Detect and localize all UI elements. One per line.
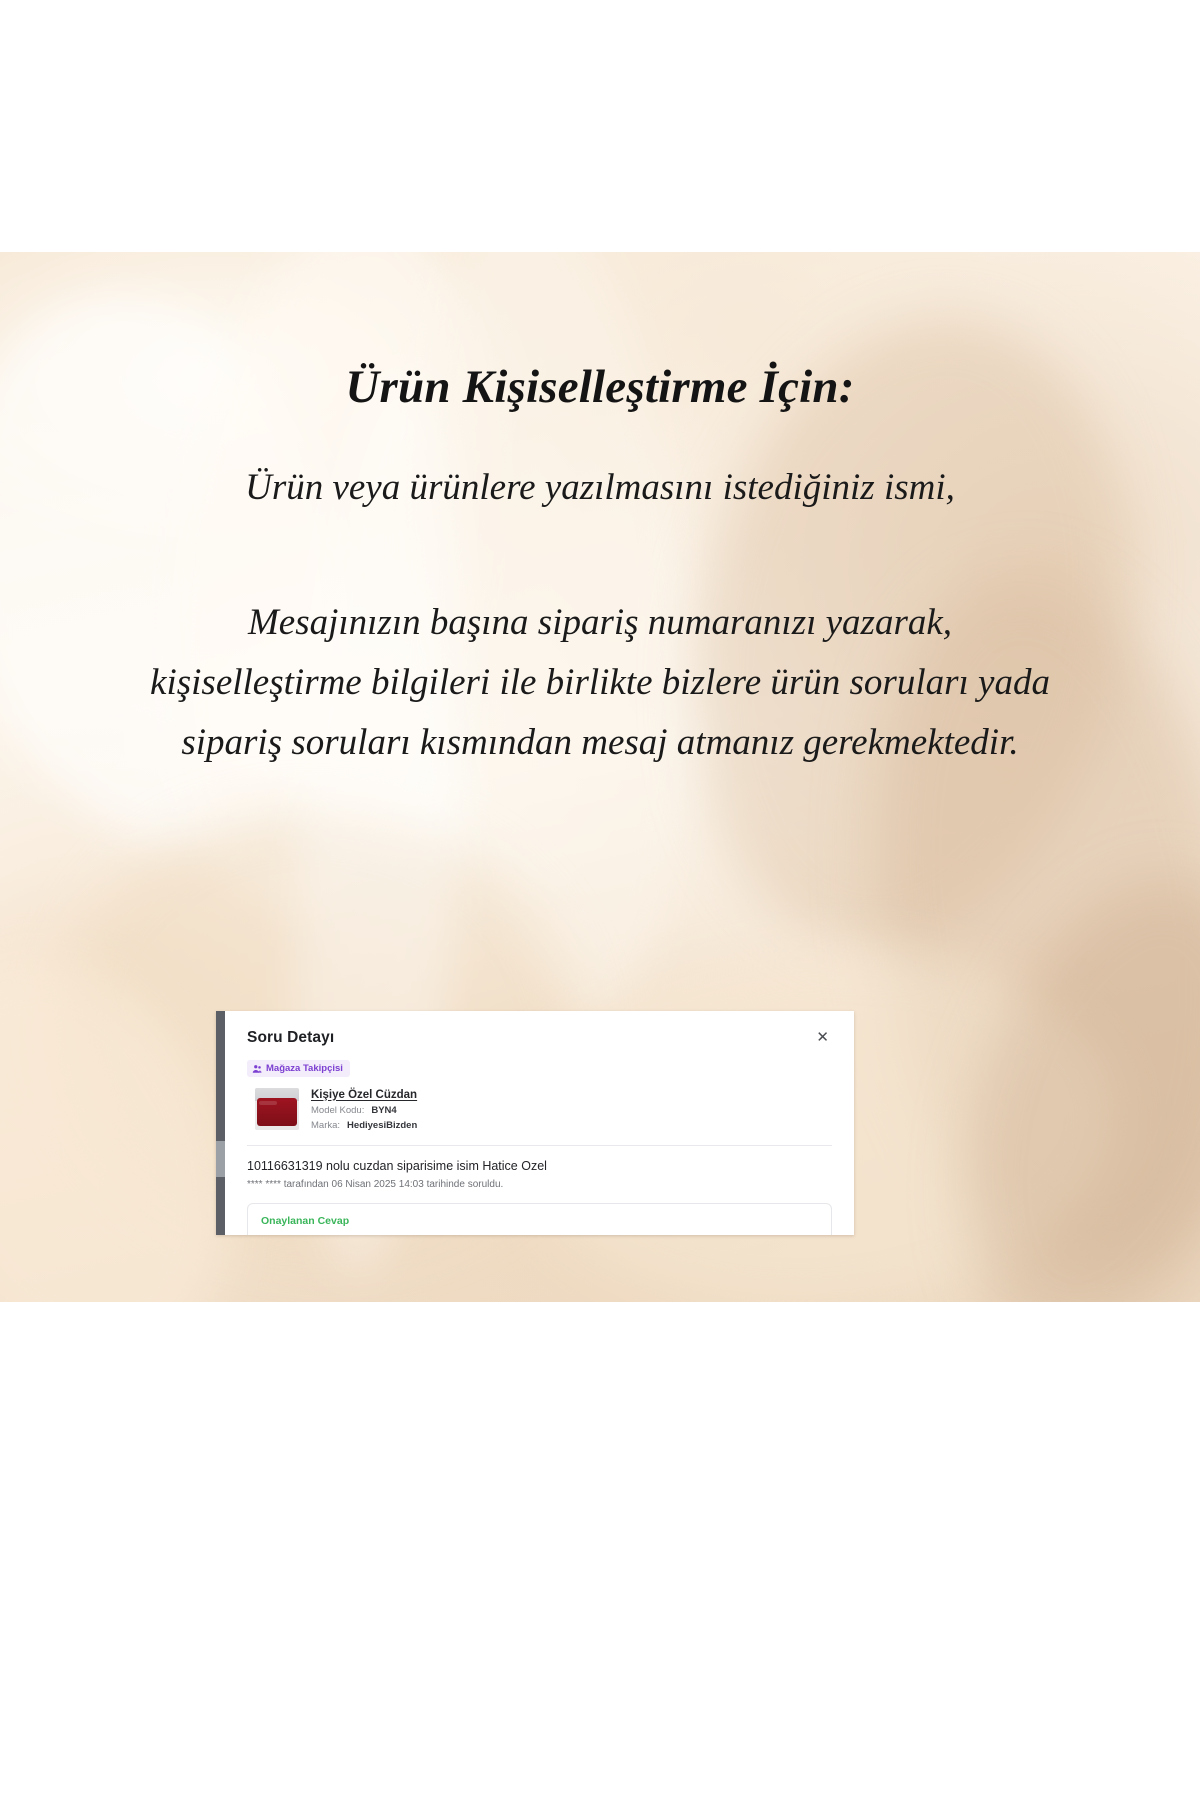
follower-person-icon xyxy=(252,1064,262,1074)
divider xyxy=(247,1145,832,1146)
promo-image-canvas: Ürün Kişiselleştirme İçin: Ürün veya ürü… xyxy=(0,0,1200,1800)
model-code-value: BYN4 xyxy=(371,1105,396,1116)
promo-copy: Ürün Kişiselleştirme İçin: Ürün veya ürü… xyxy=(0,252,1200,773)
status-badge-label: Mağaza Takipçisi xyxy=(266,1063,343,1074)
product-brand: Marka:HediyesiBizden xyxy=(311,1120,417,1131)
wallet-thumbnail[interactable] xyxy=(255,1088,299,1130)
page-title: Ürün Kişiselleştirme İçin: xyxy=(0,252,1200,414)
modal-title: Soru Detayı xyxy=(247,1029,334,1047)
promo-paragraph-line: kişiselleştirme bilgileri ile birlikte b… xyxy=(75,653,1125,713)
question-asked-meta: **** **** tarafından 06 Nisan 2025 14:03… xyxy=(247,1179,832,1190)
promo-paragraph-line: Mesajınızın başına sipariş numaranızı ya… xyxy=(75,593,1125,653)
product-title-link[interactable]: Kişiye Özel Cüzdan xyxy=(311,1089,417,1101)
model-code-label: Model Kodu: xyxy=(311,1105,364,1116)
scrollbar[interactable] xyxy=(216,1011,225,1235)
status-badge: Mağaza Takipçisi xyxy=(247,1060,350,1077)
question-detail-modal: Soru Detayı ✕ Mağaza Takipçisi xyxy=(225,1011,854,1235)
brand-label: Marka: xyxy=(311,1120,340,1131)
product-meta: Kişiye Özel Cüzdan Model Kodu:BYN4 Marka… xyxy=(311,1088,417,1131)
product-row[interactable]: Kişiye Özel Cüzdan Model Kodu:BYN4 Marka… xyxy=(247,1088,832,1131)
modal-header: Soru Detayı ✕ xyxy=(247,1029,832,1047)
approved-answer-box: Onaylanan Cevap Merhaba, talebiniz alınm… xyxy=(247,1203,832,1236)
promo-paragraph: Mesajınızın başına sipariş numaranızı ya… xyxy=(75,509,1125,773)
close-icon[interactable]: ✕ xyxy=(813,1029,832,1046)
product-model-code: Model Kodu:BYN4 xyxy=(311,1105,417,1116)
brand-value: HediyesiBizden xyxy=(347,1120,417,1131)
thumbnail-highlight xyxy=(259,1101,277,1105)
promo-subheading: Ürün veya ürünlere yazılmasını istediğin… xyxy=(0,414,1200,509)
promo-paragraph-line: sipariş soruları kısmından mesaj atmanız… xyxy=(75,713,1125,773)
approved-answer-label: Onaylanan Cevap xyxy=(261,1215,818,1227)
embedded-screenshot: Soru Detayı ✕ Mağaza Takipçisi xyxy=(216,1011,854,1235)
question-text: 10116631319 nolu cuzdan siparisime isim … xyxy=(247,1159,832,1173)
